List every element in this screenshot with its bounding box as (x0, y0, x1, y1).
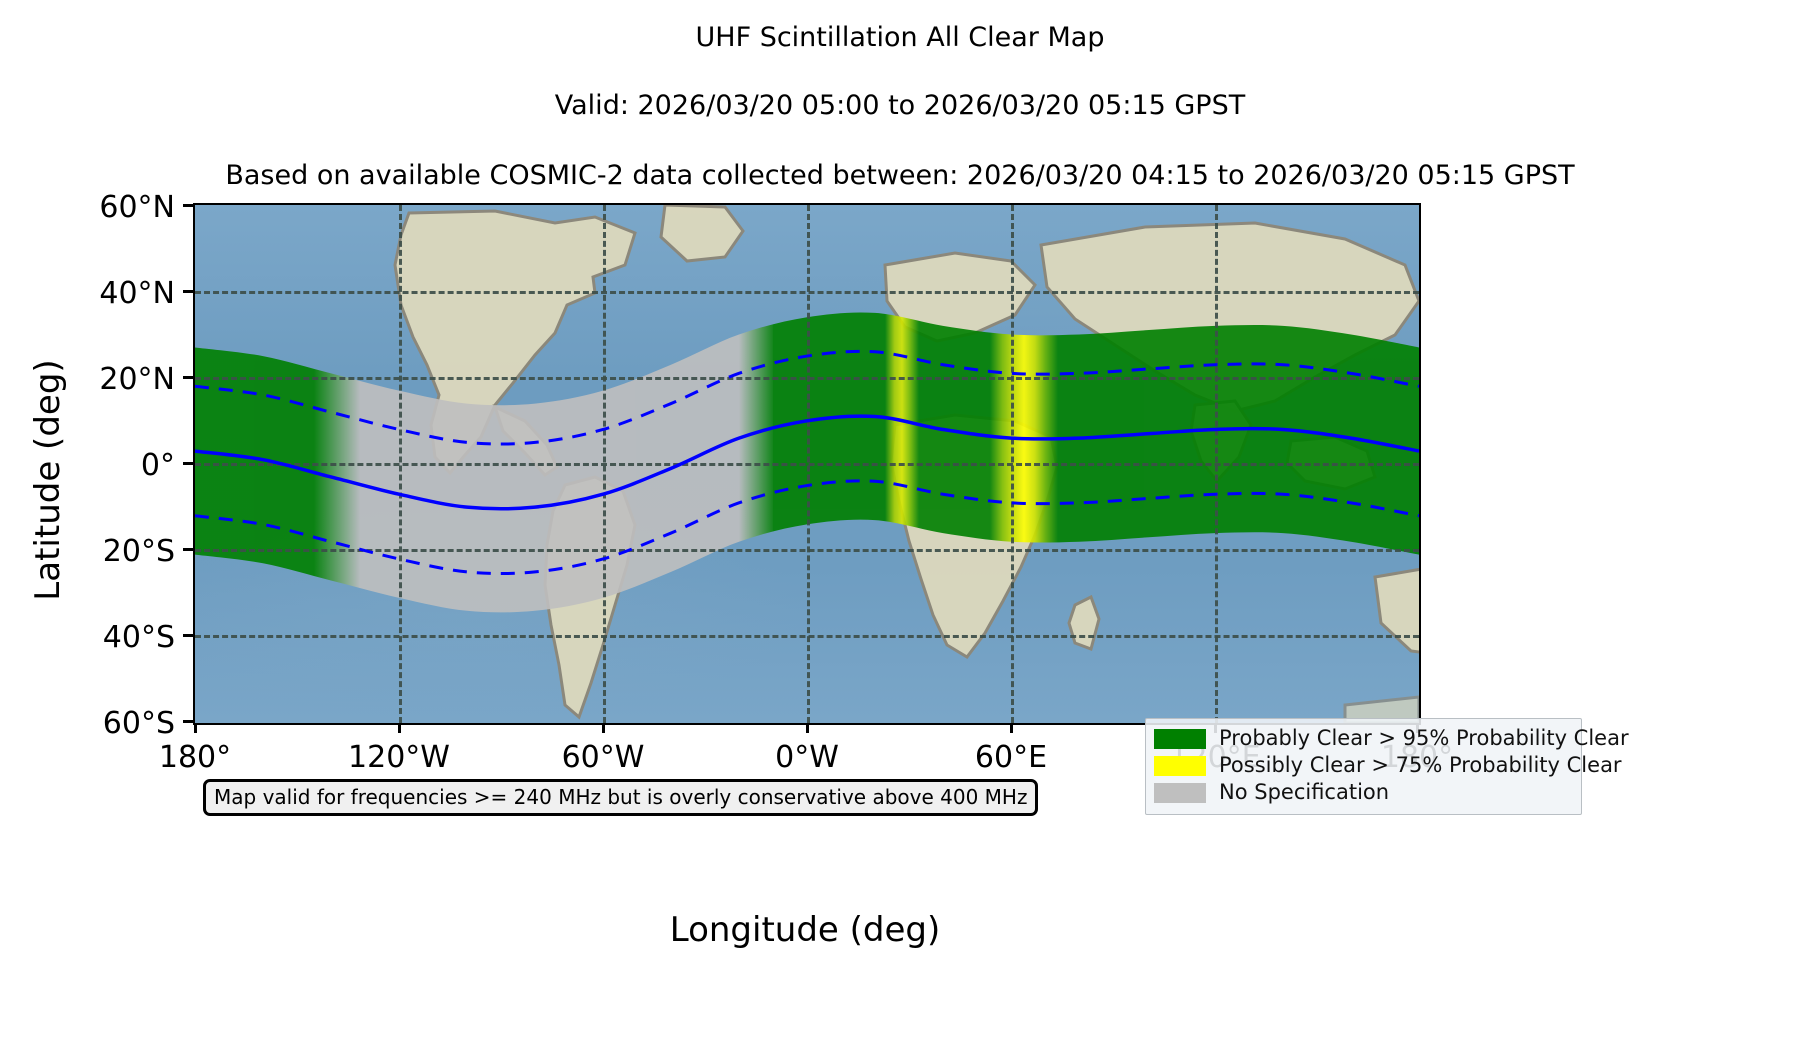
y-tick-mark (183, 376, 193, 379)
legend-item-possibly-clear: Possibly Clear > 75% Probability Clear (1154, 752, 1573, 779)
valid-period-subtitle: Valid: 2026/03/20 05:00 to 2026/03/20 05… (0, 90, 1800, 121)
legend-label-possibly-clear: Possibly Clear > 75% Probability Clear (1219, 755, 1622, 776)
y-tick-label-60s: 60°S (103, 706, 175, 741)
y-tick-mark (183, 548, 193, 551)
annotation-text: Map valid for frequencies >= 240 MHz but… (214, 786, 1027, 808)
y-tick-label-0: 0° (141, 448, 175, 483)
x-axis-label: Longitude (deg) (193, 910, 1417, 950)
x-tick-label-120w: 120°W (299, 740, 499, 775)
page-title: UHF Scintillation All Clear Map (0, 22, 1800, 53)
boundary-lines-layer (195, 205, 1419, 723)
y-tick-mark (183, 634, 193, 637)
y-tick-mark (183, 462, 193, 465)
y-tick-label-20n: 20°N (99, 362, 175, 397)
y-tick-mark (183, 720, 193, 723)
map-plot-area[interactable] (193, 203, 1421, 725)
legend-label-probably-clear: Probably Clear > 95% Probability Clear (1219, 728, 1629, 749)
data-source-subtitle: Based on available COSMIC-2 data collect… (0, 160, 1800, 191)
south-boundary-line (195, 481, 1419, 574)
figure-canvas: UHF Scintillation All Clear Map Valid: 2… (0, 0, 1800, 1050)
y-tick-mark (183, 290, 193, 293)
frequency-validity-annotation: Map valid for frequencies >= 240 MHz but… (203, 779, 1038, 816)
map-canvas (195, 205, 1419, 723)
y-tick-label-40n: 40°N (99, 276, 175, 311)
x-tick-label-60e: 60°E (911, 740, 1111, 775)
legend-item-probably-clear: Probably Clear > 95% Probability Clear (1154, 725, 1573, 752)
y-tick-label-40s: 40°S (103, 620, 175, 655)
y-axis-label: Latitude (deg) (28, 220, 68, 740)
x-tick-label-180w: 180° (95, 740, 295, 775)
y-tick-label-20s: 20°S (103, 534, 175, 569)
y-tick-mark (183, 204, 193, 207)
yellow-swatch (1154, 756, 1206, 776)
green-swatch (1154, 729, 1206, 749)
legend-item-no-specification: No Specification (1154, 779, 1573, 806)
x-tick-label-0: 0°W (707, 740, 907, 775)
legend-label-no-specification: No Specification (1219, 782, 1389, 803)
x-tick-label-60w: 60°W (503, 740, 703, 775)
legend-box: Probably Clear > 95% Probability Clear P… (1145, 718, 1582, 815)
grey-swatch (1154, 783, 1206, 803)
y-tick-label-60n: 60°N (99, 190, 175, 225)
